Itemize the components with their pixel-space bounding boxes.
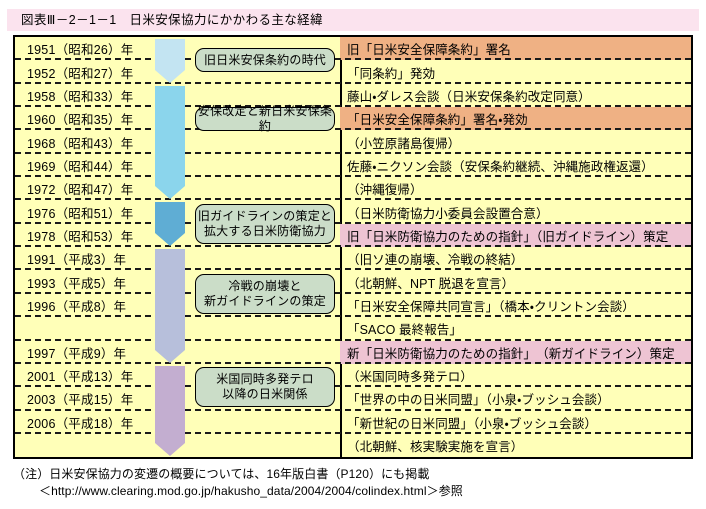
event-cell: （北朝鮮、核実験実施を宣言） bbox=[340, 434, 691, 457]
event-cell: 旧「日米防衛協力のための指針」（旧ガイドライン）策定 bbox=[340, 224, 691, 247]
table-row: 1996（平成8）年「日米安全保障共同宣言」（橋本・クリントン会談） bbox=[15, 294, 691, 317]
arrow-shaft bbox=[155, 366, 185, 443]
table-row: 1978（昭和53）年旧「日米防衛協力のための指針」（旧ガイドライン）策定 bbox=[15, 224, 691, 247]
event-cell: （小笠原諸島復帰） bbox=[340, 130, 691, 153]
year-cell: 2006（平成18）年 bbox=[15, 411, 136, 434]
era-label-box: 米国同時多発テロ以降の日米関係 bbox=[195, 367, 335, 407]
year-cell: 1991（平成3）年 bbox=[15, 247, 136, 270]
year-cell bbox=[15, 434, 136, 457]
table-row: 2001（平成13）年（米国同時多発テロ） bbox=[15, 364, 691, 387]
arrow-era-3 bbox=[155, 202, 185, 246]
footnote-line-2: ＜http://www.clearing.mod.go.jp/hakusho_d… bbox=[13, 483, 703, 500]
event-cell: 新「日米防衛協力のための指針」 （新ガイドライン）策定 bbox=[340, 341, 691, 364]
event-cell: 「新世紀の日米同盟」（小泉・ブッシュ会談） bbox=[340, 411, 691, 434]
era-label-box: 冷戦の崩壊と新ガイドラインの策定 bbox=[195, 274, 335, 314]
event-cell: 「SACO 最終報告」 bbox=[340, 317, 691, 340]
figure-title-bar: 図表Ⅲ－2－1－1 日米安保協力にかかわる主な経緯 bbox=[7, 9, 699, 31]
arrow-head bbox=[155, 70, 185, 83]
event-cell: （北朝鮮、NPT 脱退を宣言） bbox=[340, 271, 691, 294]
year-cell: 1997（平成9）年 bbox=[15, 341, 136, 364]
table-row: 1976（昭和51）年（日米防衛協力小委員会設置合意） bbox=[15, 200, 691, 223]
event-cell: （米国同時多発テロ） bbox=[340, 364, 691, 387]
table-row: 2003（平成15）年「世界の中の日米同盟」（小泉・ブッシュ会談） bbox=[15, 387, 691, 410]
era-label-box: 旧ガイドラインの策定と拡大する日米防衛協力 bbox=[195, 204, 335, 244]
year-cell: 1958（昭和33）年 bbox=[15, 84, 136, 107]
year-cell: 2001（平成13）年 bbox=[15, 364, 136, 387]
era-label-text: 旧日米安保条約の時代 bbox=[204, 53, 326, 68]
arrow-head bbox=[155, 443, 185, 456]
table-row: 1972（昭和47）年（沖縄復帰） bbox=[15, 177, 691, 200]
event-cell: 旧「日米安全保障条約」署名 bbox=[340, 37, 691, 60]
timeline-table: 1951（昭和26）年旧「日米安全保障条約」署名1952（昭和27）年「同条約」… bbox=[13, 35, 693, 459]
table-row: 1952（昭和27）年「同条約」発効 bbox=[15, 60, 691, 83]
arrow-head bbox=[155, 350, 185, 363]
year-cell bbox=[15, 317, 136, 340]
era-label-text: 安保改定と新日米安保条約 bbox=[196, 104, 334, 134]
event-cell: 「日米安全保障条約」署名・発効 bbox=[340, 107, 691, 130]
arrow-era-1 bbox=[155, 39, 185, 83]
era-label-box: 安保改定と新日米安保条約 bbox=[195, 107, 335, 131]
era-label-text: 冷戦の崩壊と新ガイドラインの策定 bbox=[204, 279, 326, 309]
year-cell: 1960（昭和35）年 bbox=[15, 107, 136, 130]
year-cell: 1976（昭和51）年 bbox=[15, 200, 136, 223]
year-cell: 1951（昭和26）年 bbox=[15, 37, 136, 60]
event-cell: （日米防衛協力小委員会設置合意） bbox=[340, 200, 691, 223]
year-cell: 1993（平成5）年 bbox=[15, 271, 136, 294]
page-title: 図表Ⅲ－2－1－1 日米安保協力にかかわる主な経緯 bbox=[21, 12, 323, 29]
event-cell: 佐藤・ニクソン会談（安保条約継続、沖縄施政権返還） bbox=[340, 154, 691, 177]
event-cell: 藤山・ダレス会談（日米安保条約改定同意） bbox=[340, 84, 691, 107]
timeline-grid: 1951（昭和26）年旧「日米安全保障条約」署名1952（昭和27）年「同条約」… bbox=[15, 37, 691, 457]
table-row: 1958（昭和33）年藤山・ダレス会談（日米安保条約改定同意） bbox=[15, 84, 691, 107]
year-cell: 1978（昭和53）年 bbox=[15, 224, 136, 247]
year-cell: 1952（昭和27）年 bbox=[15, 60, 136, 83]
event-cell: （沖縄復帰） bbox=[340, 177, 691, 200]
era-label-text: 米国同時多発テロ以降の日米関係 bbox=[216, 372, 314, 402]
table-row: 1969（昭和44）年佐藤・ニクソン会談（安保条約継続、沖縄施政権返還） bbox=[15, 154, 691, 177]
arrow-shaft bbox=[155, 249, 185, 350]
table-row: 1960（昭和35）年「日米安全保障条約」署名・発効 bbox=[15, 107, 691, 130]
year-cell: 1972（昭和47）年 bbox=[15, 177, 136, 200]
table-row: 1993（平成5）年（北朝鮮、NPT 脱退を宣言） bbox=[15, 271, 691, 294]
figure-container: 図表Ⅲ－2－1－1 日米安保協力にかかわる主な経緯 1951（昭和26）年旧「日… bbox=[0, 0, 706, 509]
arrow-era-5 bbox=[155, 366, 185, 456]
arrow-shaft bbox=[155, 86, 185, 187]
event-cell: 「日米安全保障共同宣言」（橋本・クリントン会談） bbox=[340, 294, 691, 317]
arrow-shaft bbox=[155, 202, 185, 233]
arrow-head bbox=[155, 186, 185, 199]
event-cell: 「同条約」発効 bbox=[340, 60, 691, 83]
table-row: 1997（平成9）年新「日米防衛協力のための指針」 （新ガイドライン）策定 bbox=[15, 341, 691, 364]
arrow-head bbox=[155, 233, 185, 246]
event-cell: 「世界の中の日米同盟」（小泉・ブッシュ会談） bbox=[340, 387, 691, 410]
year-cell: 1996（平成8）年 bbox=[15, 294, 136, 317]
arrow-shaft bbox=[155, 39, 185, 70]
table-row: 1951（昭和26）年旧「日米安全保障条約」署名 bbox=[15, 37, 691, 60]
era-label-text: 旧ガイドラインの策定と拡大する日米防衛協力 bbox=[198, 209, 332, 239]
table-row: 「SACO 最終報告」 bbox=[15, 317, 691, 340]
era-label-box: 旧日米安保条約の時代 bbox=[195, 48, 335, 72]
table-row: （北朝鮮、核実験実施を宣言） bbox=[15, 434, 691, 457]
arrow-era-4 bbox=[155, 249, 185, 363]
event-cell: （旧ソ連の崩壊、冷戦の終結） bbox=[340, 247, 691, 270]
year-cell: 1968（昭和43）年 bbox=[15, 130, 136, 153]
year-cell: 1969（昭和44）年 bbox=[15, 154, 136, 177]
table-row: 2006（平成18）年「新世紀の日米同盟」（小泉・ブッシュ会談） bbox=[15, 411, 691, 434]
footnote-line-1: （注）日米安保協力の変遷の概要については、16年版白書（P120）にも掲載 bbox=[13, 466, 703, 483]
year-cell: 2003（平成15）年 bbox=[15, 387, 136, 410]
footnote: （注）日米安保協力の変遷の概要については、16年版白書（P120）にも掲載 ＜h… bbox=[13, 466, 703, 500]
arrow-era-2 bbox=[155, 86, 185, 200]
table-row: 1991（平成3）年（旧ソ連の崩壊、冷戦の終結） bbox=[15, 247, 691, 270]
table-row: 1968（昭和43）年（小笠原諸島復帰） bbox=[15, 130, 691, 153]
